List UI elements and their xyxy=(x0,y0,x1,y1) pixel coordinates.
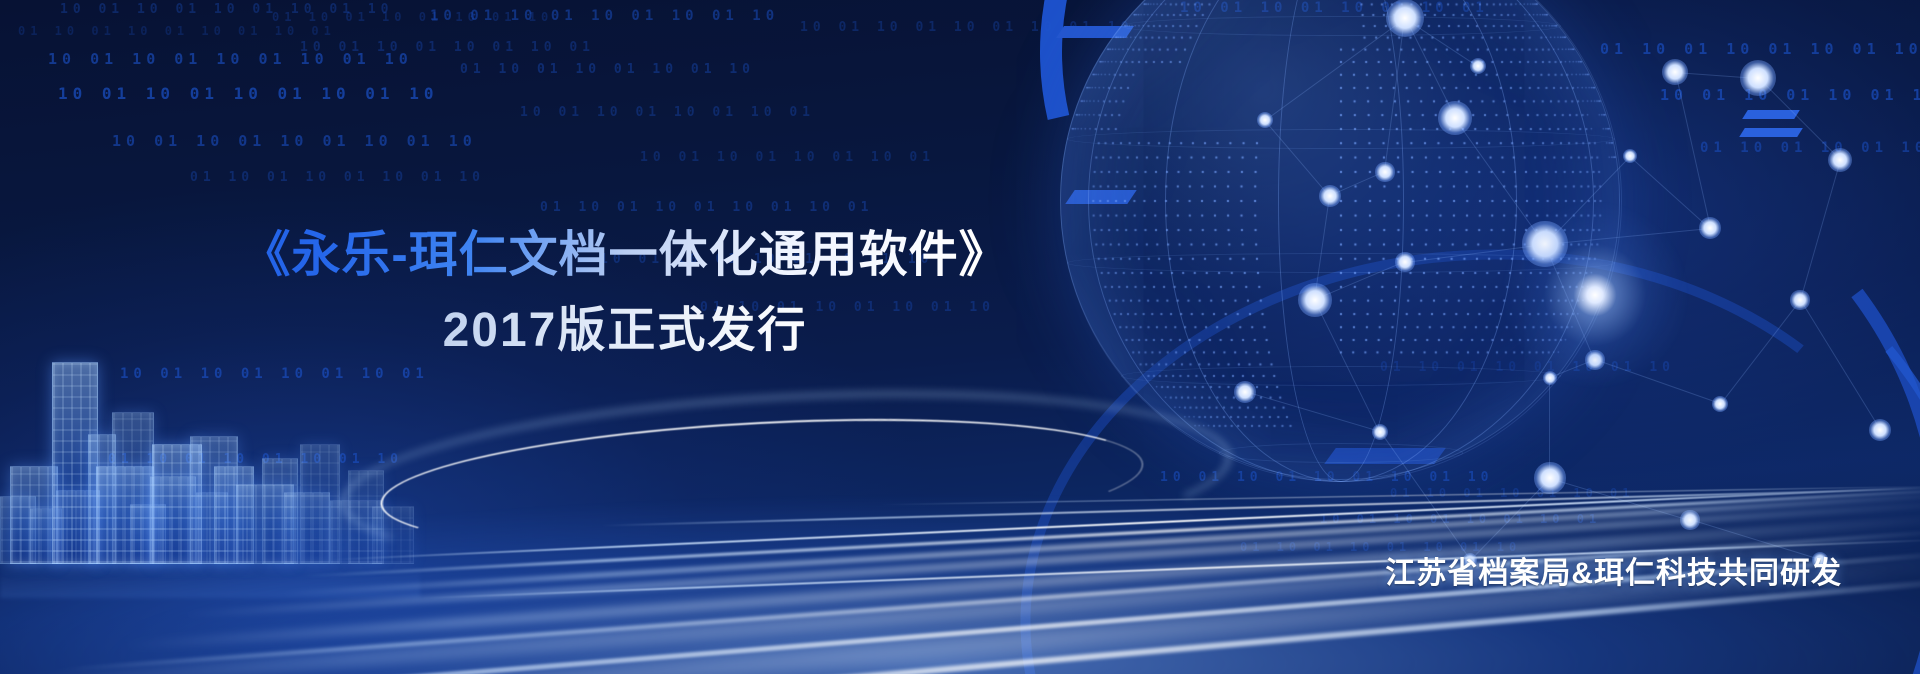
binary-code-row: 01 10 01 10 01 10 xyxy=(1700,140,1920,156)
binary-code-row: 01 10 01 10 01 10 01 10 xyxy=(190,170,485,185)
binary-code-row: 10 01 10 01 10 01 10 xyxy=(1660,86,1920,104)
binary-code-row: 01 10 01 10 01 10 01 10 xyxy=(460,62,755,77)
network-node xyxy=(1395,252,1414,271)
binary-code-row: 10 01 10 01 10 01 10 01 xyxy=(640,150,935,165)
binary-code-row: 10 01 10 01 10 01 10 01 10 xyxy=(48,50,413,68)
banner-hero: 10 01 10 01 10 01 10 01 1001 10 01 10 01… xyxy=(0,0,1920,674)
binary-code-row: 01 10 01 10 01 10 01 10 xyxy=(272,10,553,24)
network-node xyxy=(1375,162,1394,181)
binary-code-row: 10 01 10 01 10 01 10 01 10 xyxy=(60,2,394,17)
binary-code-row: 10 01 10 01 10 01 10 01 xyxy=(300,40,595,55)
network-link xyxy=(1675,72,1711,228)
network-node xyxy=(1699,217,1721,239)
network-node xyxy=(1438,101,1472,135)
globe-flare-node xyxy=(1500,200,1690,390)
page-subtitle: 2017版正式发行 xyxy=(0,290,1250,360)
binary-code-row: 01 10 01 10 01 10 01 10 xyxy=(1600,40,1920,58)
binary-code-row: 10 01 10 01 10 01 10 01 10 xyxy=(112,132,477,150)
binary-code-row: 10 01 10 01 10 01 10 01 10 xyxy=(58,84,438,103)
binary-code-row: 01 10 01 10 01 10 01 10 01 xyxy=(540,200,874,215)
network-node xyxy=(1740,60,1776,96)
network-node xyxy=(1790,290,1809,309)
binary-code-row: 10 01 10 01 10 01 10 01 10 xyxy=(430,8,779,24)
network-node xyxy=(1662,59,1688,85)
network-node xyxy=(1319,185,1341,207)
binary-code-row: 10 01 10 01 10 01 10 01 xyxy=(520,105,815,120)
credit-line: 江苏省档案局&珥仁科技共同研发 xyxy=(1385,548,1842,592)
network-node xyxy=(1298,283,1332,317)
network-node xyxy=(1828,148,1852,172)
binary-code-row: 01 10 01 10 01 10 01 10 01 xyxy=(18,24,336,38)
page-title: 《永乐-珥仁文档一体化通用软件》 xyxy=(0,215,1250,286)
network-link xyxy=(1800,160,1841,300)
